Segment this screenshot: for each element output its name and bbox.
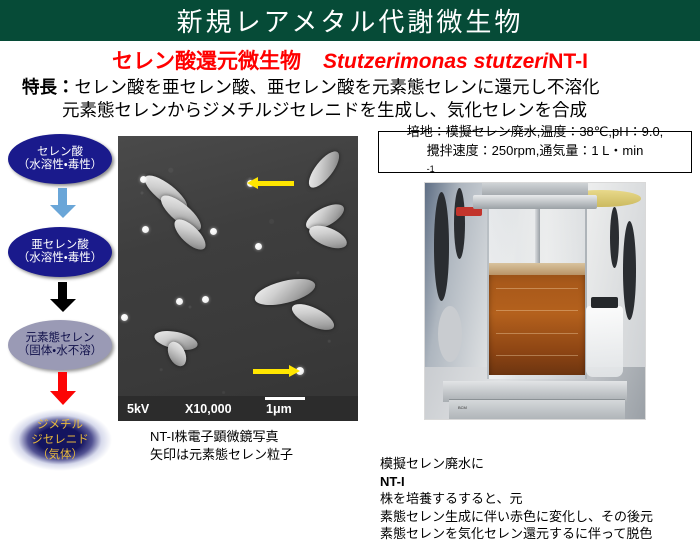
panel-label: BCM bbox=[458, 405, 467, 410]
tubing bbox=[610, 207, 619, 268]
flow-node-dmdse-line3: （気体） bbox=[37, 448, 83, 463]
reactor-caption-line-1: 模擬セレン廃水にNT-I株を培養するすると、元 bbox=[380, 455, 696, 508]
arrow-selenate-to-selenite-icon bbox=[50, 188, 76, 218]
bioreactor-caption: 模擬セレン廃水にNT-I株を培養するすると、元 素態セレン生成に伴い赤色に変化し… bbox=[380, 455, 696, 543]
sem-scale-label: 1μm bbox=[266, 402, 292, 416]
feature-line-2: 元素態セレンからジメチルジセレニドを生成し、気化セレンを合成 bbox=[0, 99, 700, 122]
selenium-pathway-flowchart: セレン酸 （水溶性・毒性） 亜セレン酸 （水溶性・毒性） 元素態セレン （固体・… bbox=[0, 132, 125, 512]
flow-node-selenate: セレン酸 （水溶性・毒性） bbox=[8, 134, 112, 184]
sem-caption: NT-I株電子顕微鏡写真 矢印は元素態セレン粒子 bbox=[150, 428, 380, 464]
selenium-nanoparticle bbox=[210, 228, 217, 235]
strain-name: NT-I bbox=[548, 50, 588, 73]
reactor-caption-line-2: 素態セレン生成に伴い赤色に変化し、その後元 bbox=[380, 508, 696, 526]
species-name: Stutzerimonas stutzeri bbox=[323, 50, 548, 73]
bioreactor-scene: BCM bbox=[424, 182, 646, 420]
slide-root: 新規レアメタル代謝微生物 セレン酸還元微生物Stutzerimonas stut… bbox=[0, 0, 700, 525]
bacterium-cell bbox=[306, 221, 350, 253]
flow-node-elemental-selenium: 元素態セレン （固体・水不溶） bbox=[8, 320, 112, 370]
sampling-bottle bbox=[586, 306, 623, 377]
selenium-nanoparticle bbox=[121, 314, 128, 321]
flow-node-elemental-line2: （固体・水不溶） bbox=[18, 345, 102, 358]
flow-node-selenite-line2: （水溶性・毒性） bbox=[18, 252, 102, 265]
arrow-selenite-to-elemental-icon bbox=[50, 282, 76, 312]
selenium-nanoparticle bbox=[202, 296, 209, 303]
flow-node-selenate-line1: セレン酸 bbox=[37, 146, 83, 159]
feature-line-1: セレン酸を亜セレン酸、亜セレン酸を元素態セレンに還元し不溶化 bbox=[75, 77, 600, 97]
sem-magnification-label: X10,000 bbox=[185, 402, 232, 416]
selenium-nanoparticle bbox=[142, 226, 149, 233]
broth-foam-layer bbox=[489, 263, 586, 274]
sem-micrograph: 5kV X10,000 1μm bbox=[118, 136, 358, 421]
reactor-caption-line-1-a: 模擬セレン廃水に bbox=[380, 455, 696, 473]
reactor-caption-strain: NT-I bbox=[380, 474, 405, 489]
conditions-line-2-exponent: -1 bbox=[427, 164, 435, 174]
sem-caption-line-1: NT-I株電子顕微鏡写真 bbox=[150, 428, 380, 446]
flow-node-dmdse-line1: ジメチル bbox=[37, 418, 83, 433]
page-title: 新規レアメタル代謝微生物 bbox=[0, 0, 700, 41]
reactor-control-panel: BCM bbox=[449, 399, 625, 419]
flow-node-selenate-line2: （水溶性・毒性） bbox=[18, 159, 102, 172]
bacterium-cell bbox=[288, 299, 337, 335]
sem-annotation-arrow-lower-icon bbox=[253, 369, 289, 374]
tubing bbox=[454, 188, 465, 259]
selenium-nanoparticle bbox=[140, 176, 147, 183]
subtitle: セレン酸還元微生物Stutzerimonas stutzeriNT-I bbox=[0, 45, 700, 75]
reactor-caption-line-3: 素態セレンを気化セレン還元するに伴って脱色 bbox=[380, 525, 696, 543]
glass-vessel bbox=[487, 209, 588, 379]
sem-voltage-label: 5kV bbox=[127, 402, 149, 416]
arrow-elemental-to-dmdse-icon bbox=[50, 372, 76, 405]
culture-conditions-box: 培地：模擬セレン廃水,温度：38℃,pH：9.0, 攪拌速度：250rpm,通気… bbox=[378, 131, 692, 173]
conditions-line-2-text: 攪拌速度：250rpm,通気量：1 L・min bbox=[427, 141, 644, 160]
sem-scalebar: 5kV X10,000 1μm bbox=[118, 396, 358, 421]
flow-node-selenite-line1: 亜セレン酸 bbox=[31, 239, 89, 252]
bacterium-cell bbox=[304, 147, 344, 192]
tubing bbox=[434, 192, 449, 301]
flow-node-dimethyl-diselenide: ジメチル ジセレニド （気体） bbox=[8, 409, 112, 471]
sem-scale-line bbox=[265, 397, 305, 400]
conditions-line-2: 攪拌速度：250rpm,通気量：1 L・min-1 bbox=[427, 141, 644, 182]
sem-image-field: 5kV X10,000 1μm bbox=[118, 136, 358, 421]
bottle-cap bbox=[591, 297, 618, 308]
reactor-caption-line-1-b: 株を培養するすると、元 bbox=[380, 490, 696, 508]
flow-node-dmdse-line2: ジセレニド bbox=[31, 433, 89, 448]
sem-annotation-arrow-upper-icon bbox=[258, 181, 294, 186]
selenium-nanoparticle bbox=[176, 298, 183, 305]
sem-caption-line-2: 矢印は元素態セレン粒子 bbox=[150, 446, 380, 464]
culture-broth bbox=[489, 263, 586, 375]
flow-node-selenite: 亜セレン酸 （水溶性・毒性） bbox=[8, 227, 112, 277]
feature-description: 特長：セレン酸を亜セレン酸、亜セレン酸を元素態セレンに還元し不溶化 元素態セレン… bbox=[0, 76, 700, 122]
selenium-nanoparticle bbox=[255, 243, 262, 250]
subtitle-prefix: セレン酸還元微生物 bbox=[112, 50, 301, 73]
feature-label: 特長： bbox=[22, 77, 75, 97]
flow-node-elemental-line1: 元素態セレン bbox=[26, 332, 95, 345]
reactor-headplate bbox=[473, 195, 596, 209]
bioreactor-photo: BCM bbox=[424, 182, 646, 420]
conditions-line-1: 培地：模擬セレン廃水,温度：38℃,pH：9.0, bbox=[407, 122, 664, 141]
